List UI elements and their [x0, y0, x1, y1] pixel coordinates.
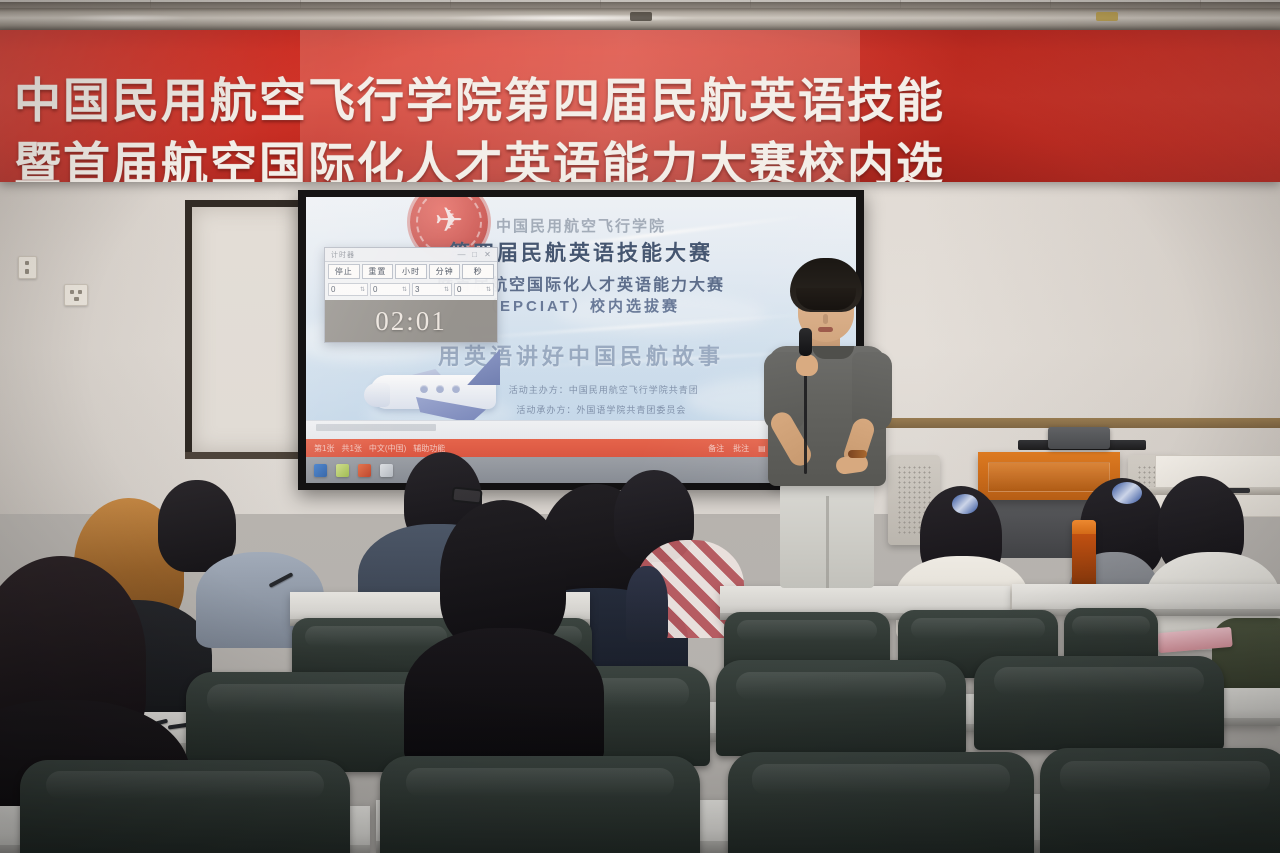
- ppt-notes-placeholder: [316, 424, 436, 431]
- timer-value: 02:01: [375, 306, 447, 337]
- ppt-icon[interactable]: [358, 464, 371, 477]
- notes-button[interactable]: 备注: [708, 443, 724, 454]
- spinner-1-value: 0: [331, 285, 360, 294]
- ceiling-fixture: [1096, 12, 1118, 21]
- maximize-icon[interactable]: □: [468, 250, 481, 259]
- spinner-4-value: 0: [457, 285, 486, 294]
- hair-scrunchie: [1112, 482, 1142, 504]
- minimize-icon[interactable]: —: [455, 250, 468, 259]
- seat: [1040, 748, 1280, 853]
- second-label: 秒: [462, 264, 494, 279]
- slide-host-line: 活动主办方：中国民用航空飞行学院共青团: [509, 383, 699, 396]
- browser-icon[interactable]: [380, 464, 393, 477]
- spinner-2-value: 0: [373, 285, 402, 294]
- seat: [716, 660, 966, 756]
- podium-monitor: [1048, 427, 1110, 449]
- reset-button[interactable]: 重置: [362, 264, 394, 279]
- banner-line-2: 暨首届航空国际化人才英语能力大赛校内选: [0, 140, 1280, 182]
- start-icon[interactable]: [314, 464, 327, 477]
- close-icon[interactable]: ✕: [481, 250, 494, 259]
- folder-icon[interactable]: [336, 464, 349, 477]
- hair-scrunchie: [952, 494, 978, 514]
- spinner-2[interactable]: 0 ⇅: [370, 283, 410, 296]
- seat: [728, 752, 1034, 853]
- presenter-hand-left: [796, 354, 818, 376]
- timer-window-title: 计时器: [328, 250, 455, 260]
- minute-label: 分钟: [429, 264, 461, 279]
- stop-button[interactable]: 停止: [328, 264, 360, 279]
- banner-line-1: 中国民用航空飞行学院第四届民航英语技能: [0, 76, 1280, 126]
- comments-button[interactable]: 批注: [733, 443, 749, 454]
- microphone: [799, 328, 812, 356]
- foreground-student-center-body: [404, 628, 604, 768]
- timer-display: 02:01: [325, 300, 497, 342]
- presenter: [752, 258, 902, 588]
- timer-titlebar[interactable]: 计时器 — □ ✕: [325, 248, 497, 262]
- spinner-3[interactable]: 3 ⇅: [412, 283, 452, 296]
- seat: [974, 656, 1224, 750]
- spinner-1[interactable]: 0 ⇅: [328, 283, 368, 296]
- timer-button-row: 停止 重置 小时 分钟 秒: [325, 262, 497, 281]
- wall-outlet: [18, 256, 37, 279]
- timer-spinner-row: 0 ⇅ 0 ⇅ 3 ⇅ 0 ⇅: [325, 281, 497, 298]
- spinner-arrow-icon[interactable]: ⇅: [444, 287, 449, 293]
- spinner-arrow-icon[interactable]: ⇅: [360, 287, 365, 293]
- status-slide-total: 共1张: [341, 443, 361, 454]
- classroom-scene: 中国民用航空飞行学院第四届民航英语技能 暨首届航空国际化人才英语能力大赛校内选 …: [0, 0, 1280, 853]
- spinner-arrow-icon[interactable]: ⇅: [486, 287, 491, 293]
- student-checkered-arm: [626, 566, 668, 642]
- presenter-hair: [790, 258, 862, 312]
- seat: [20, 760, 350, 853]
- hour-label: 小时: [395, 264, 427, 279]
- slide-cohost-line: 活动承办方：外国语学院共青团委员会: [516, 403, 686, 416]
- orange-thermos: [1072, 520, 1096, 592]
- wall-outlet: [64, 284, 88, 306]
- event-banner: 中国民用航空飞行学院第四届民航英语技能 暨首届航空国际化人才英语能力大赛校内选: [0, 30, 1280, 182]
- status-slide-index: 第1张: [314, 443, 334, 454]
- ceiling-fixture: [630, 12, 652, 21]
- bracelet: [848, 450, 867, 458]
- blackboard-frame: [185, 200, 310, 459]
- spinner-3-value: 3: [415, 285, 444, 294]
- seat: [380, 756, 700, 853]
- timer-window[interactable]: 计时器 — □ ✕ 停止 重置 小时 分钟 秒 0: [324, 247, 498, 343]
- eyeglasses: [451, 486, 482, 504]
- status-language: 中文(中国): [369, 443, 406, 454]
- spinner-arrow-icon[interactable]: ⇅: [402, 287, 407, 293]
- presenter-pants: [780, 480, 874, 588]
- slide-org: 中国民用航空飞行学院: [306, 215, 856, 236]
- spinner-4[interactable]: 0 ⇅: [454, 283, 494, 296]
